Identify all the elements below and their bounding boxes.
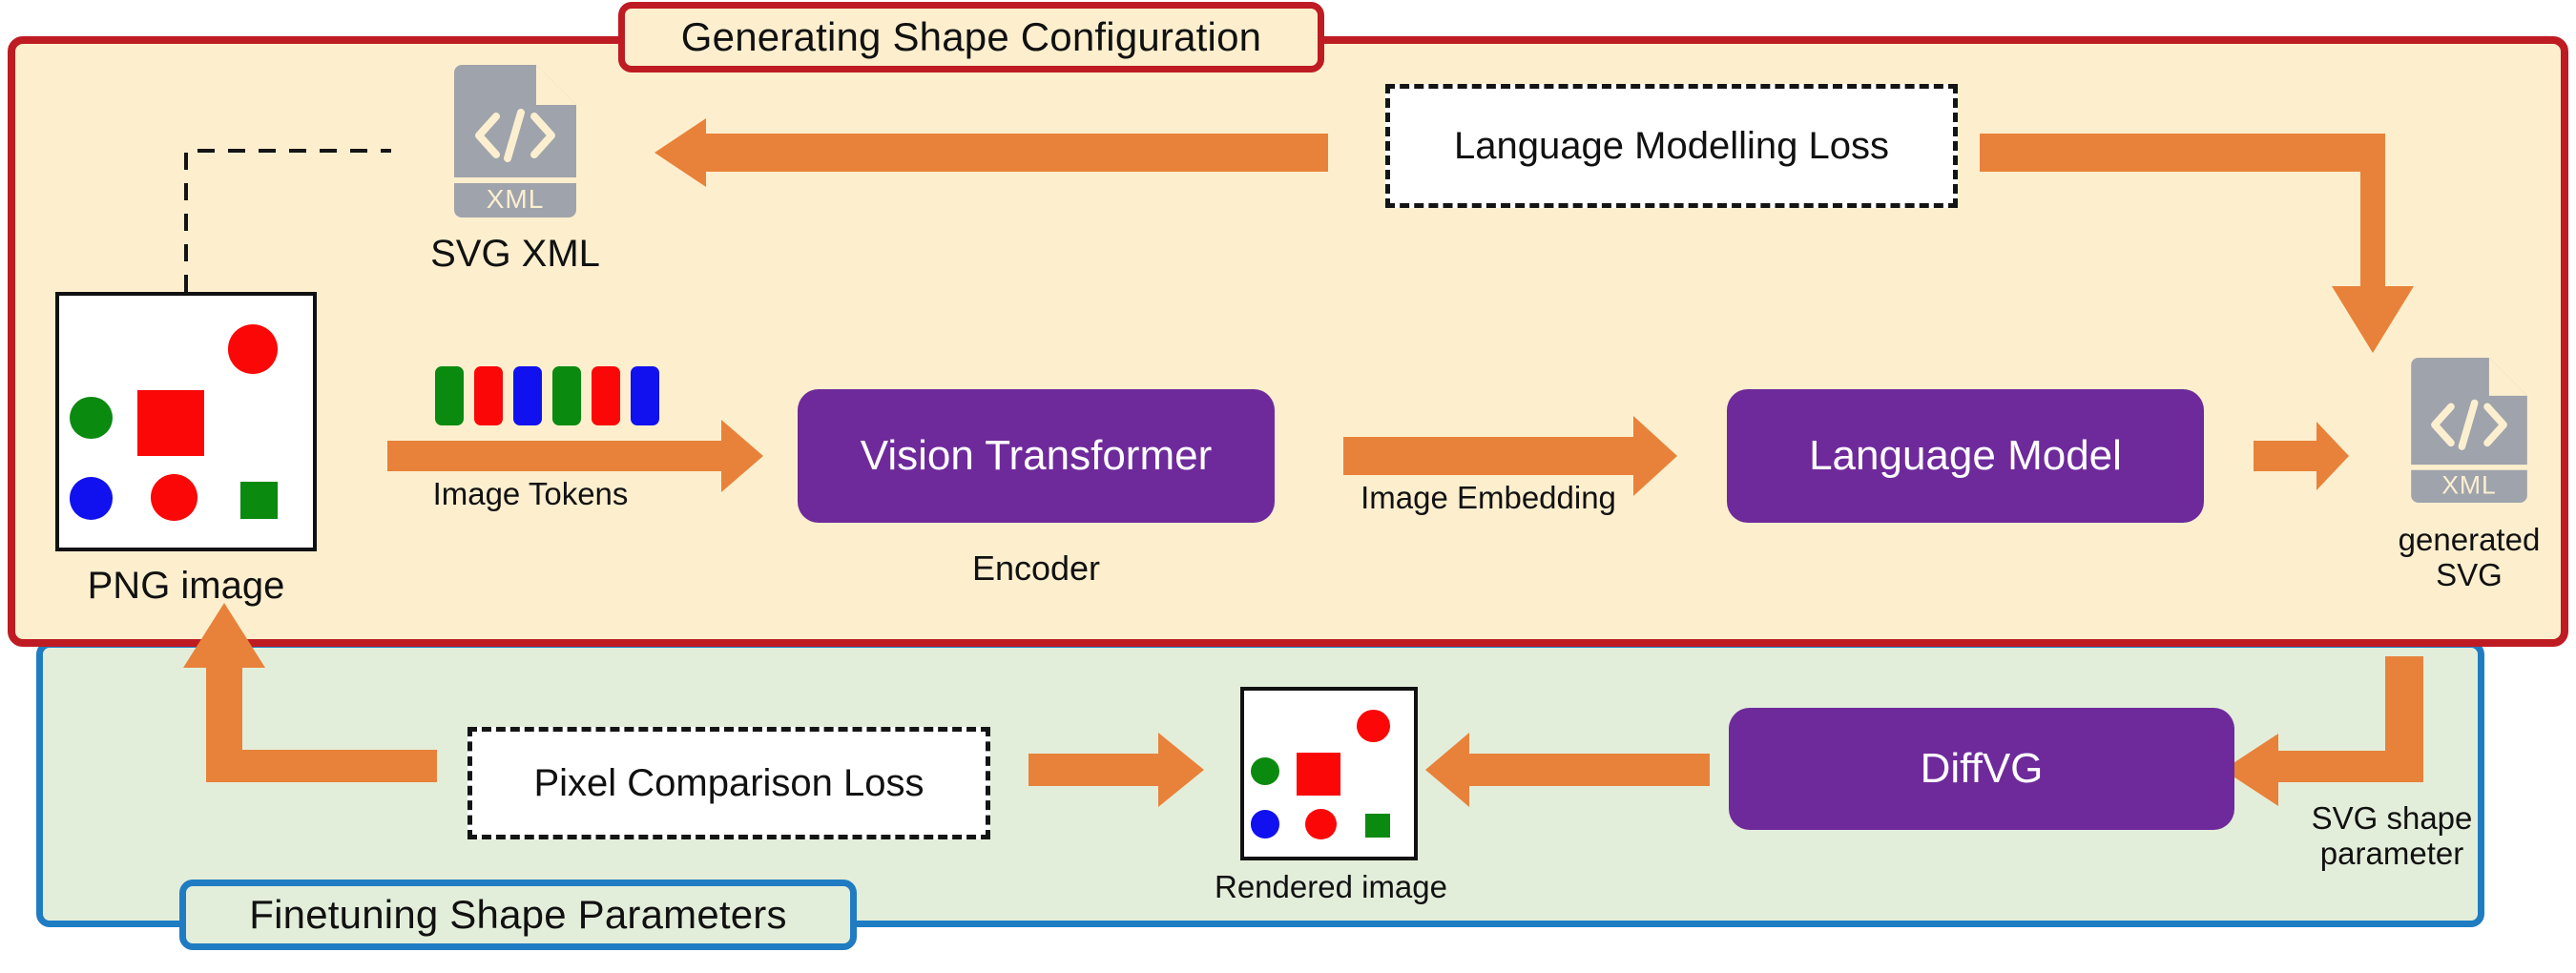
pixel-comparison-loss-box: Pixel Comparison Loss [467,727,990,839]
image-token-chip [474,366,503,425]
raster-shape-circle [1357,710,1390,742]
diagram-canvas: Generating Shape Configuration Finetunin… [0,0,2576,973]
language-model-box[interactable]: Language Model [1727,389,2204,523]
language-modelling-loss-box: Language Modelling Loss [1385,84,1958,208]
raster-shape-square [1297,753,1340,796]
raster-shape-circle [1251,810,1279,838]
rendered-image-label: Rendered image [1191,870,1471,905]
image-token-chip [552,366,581,425]
vision-transformer-box[interactable]: Vision Transformer [798,389,1275,523]
raster-shape-circle [1251,757,1279,786]
raster-shape-circle [1305,809,1337,839]
generated-svg-label: generated SVG [2336,523,2576,593]
rendered-image-card [1240,687,1418,860]
generated-svg-file-icon: XML [2411,358,2527,507]
diffvg-box[interactable]: DiffVG [1729,708,2234,830]
image-token-chip [513,366,542,425]
image-token-chip [435,366,464,425]
image-token-chip [631,366,659,425]
image-token-chip [592,366,620,425]
raster-shape-square [1365,814,1390,838]
svg-text:XML: XML [2441,471,2497,500]
svg-shape-parameter-label: SVG shape parameter [2244,801,2540,872]
image-embedding-label: Image Embedding [1317,481,1660,516]
vision-transformer-sublabel: Encoder [798,549,1275,588]
image-tokens-label: Image Tokens [387,477,674,512]
